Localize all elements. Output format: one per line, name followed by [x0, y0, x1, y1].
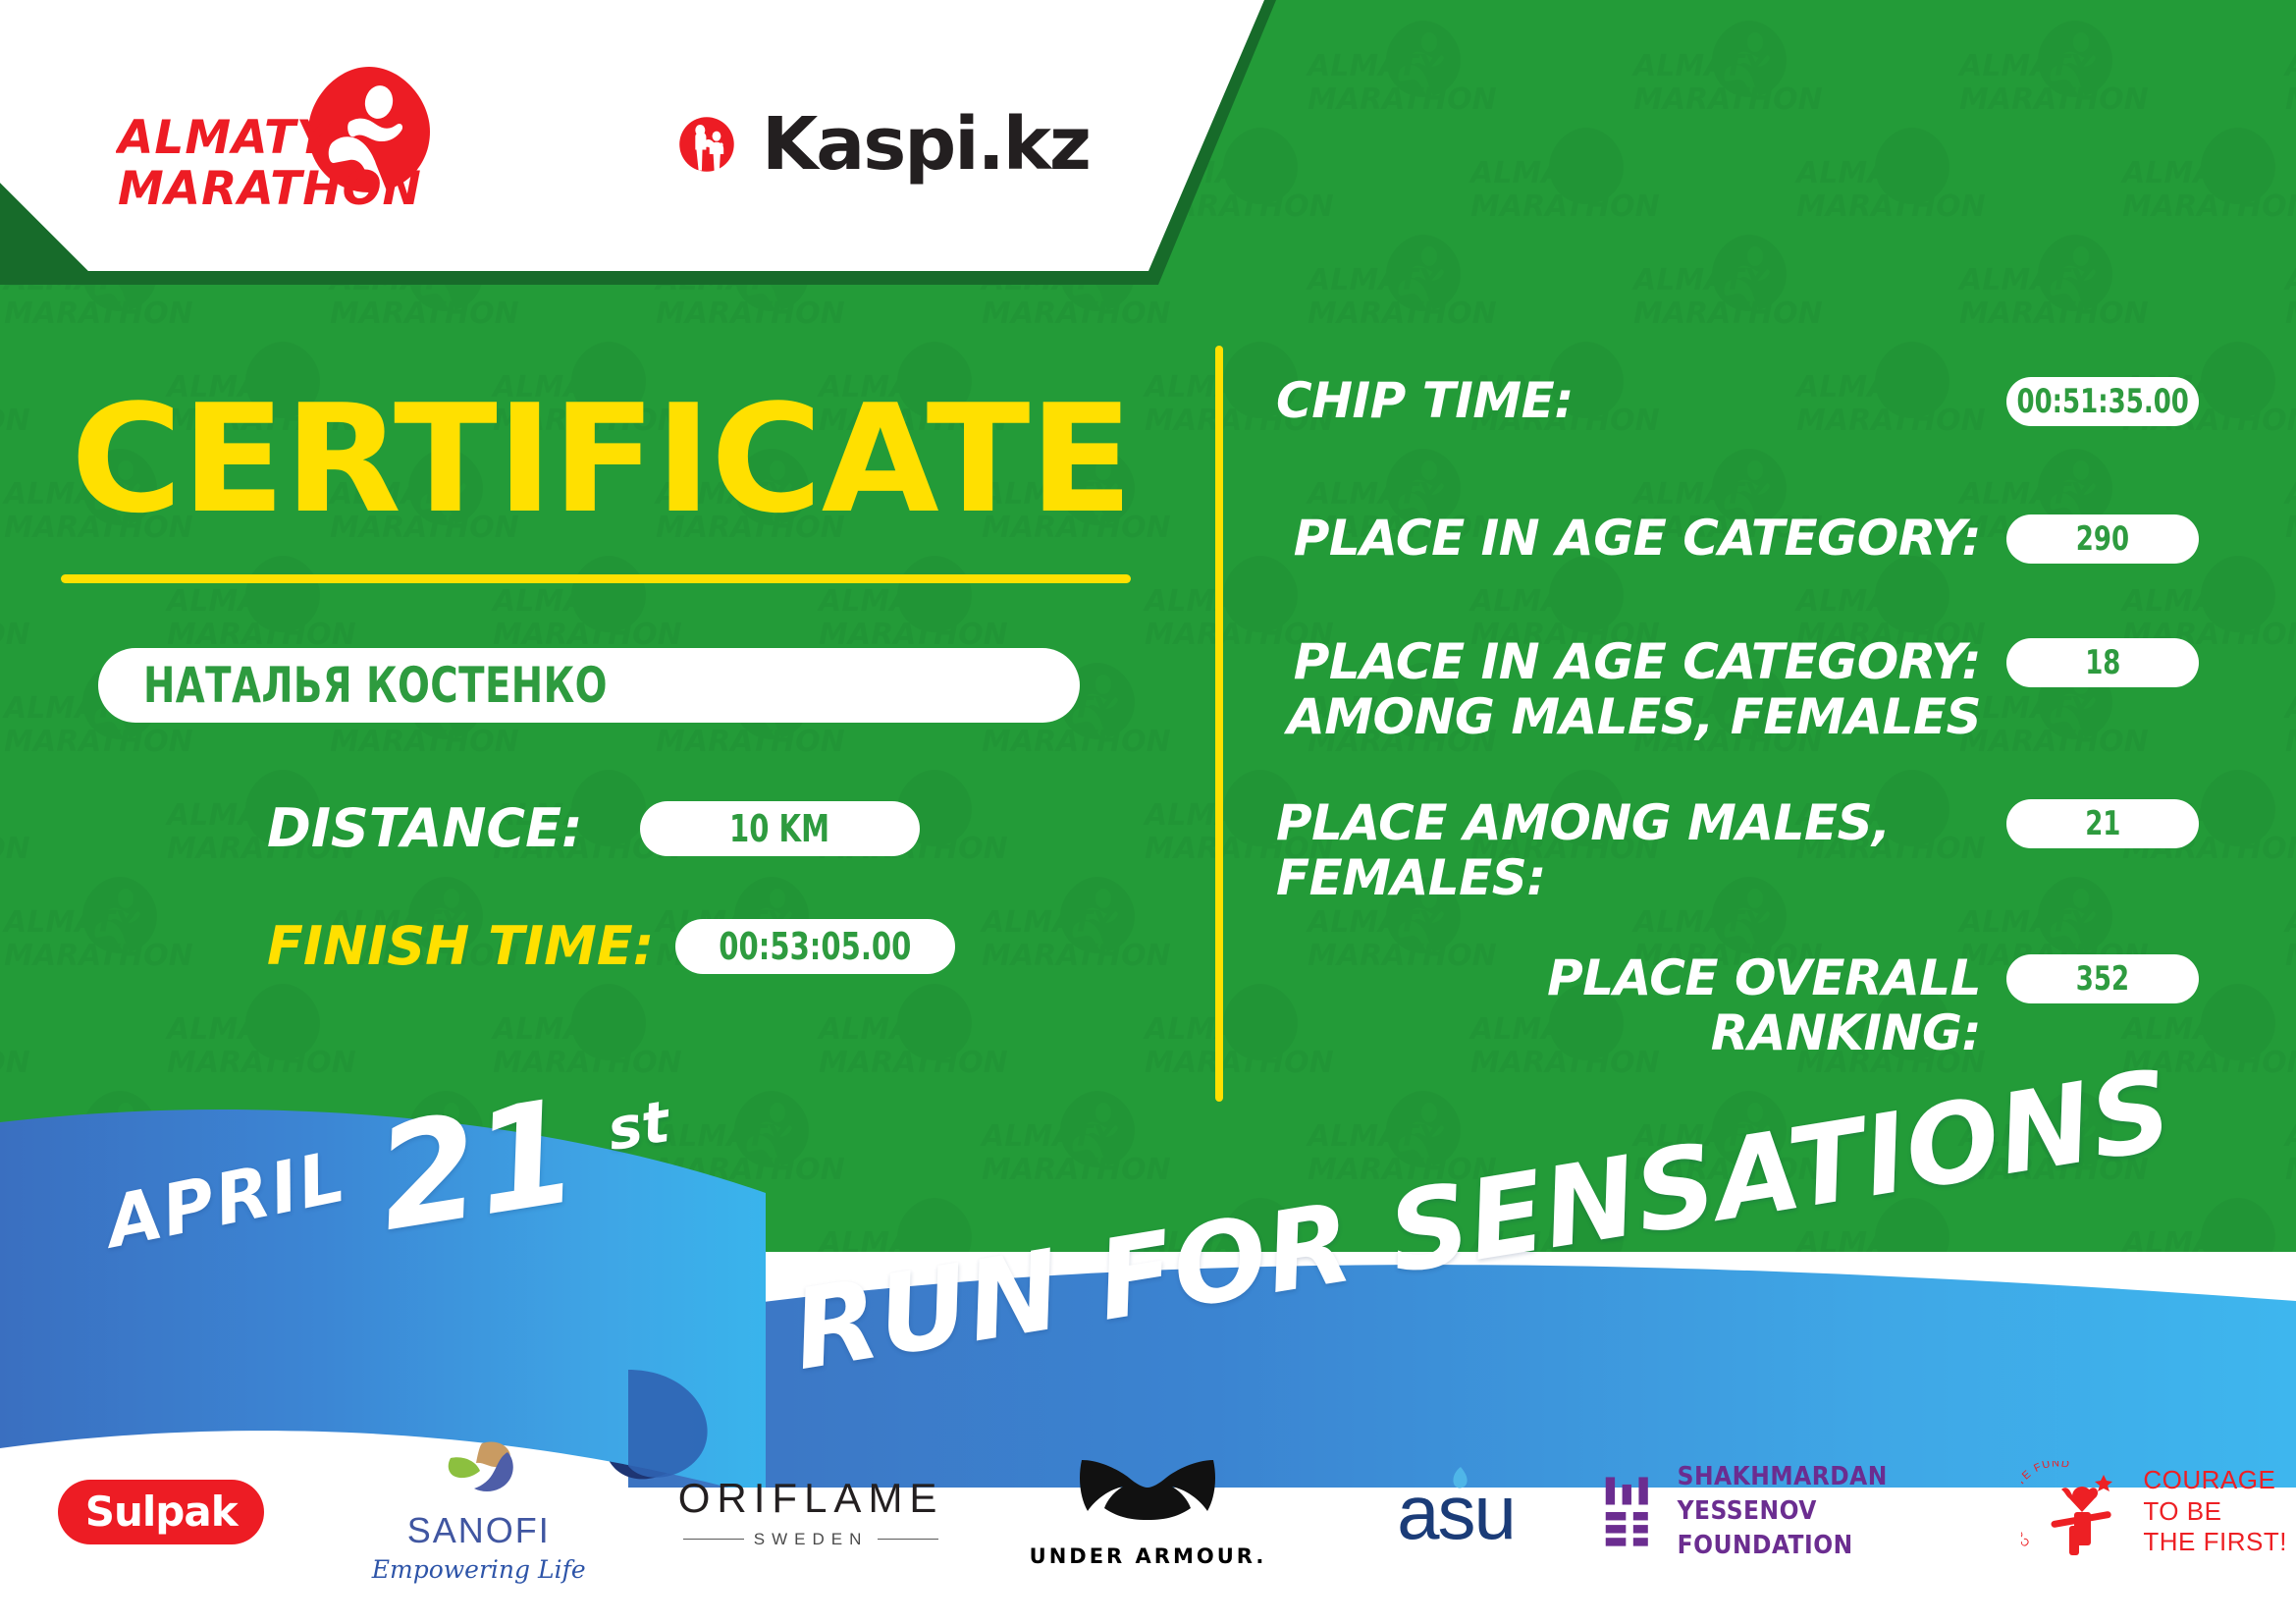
- participant-name: НАТАЛЬЯ КОСТЕНКО: [143, 657, 608, 714]
- stat-label: CHIP TIME:: [1276, 373, 2006, 428]
- courage-line1: COURAGE: [2143, 1465, 2287, 1496]
- oriflame-rule-right: [878, 1539, 938, 1541]
- asu-droplet-icon: [1448, 1466, 1469, 1495]
- sulpak-label: Sulpak: [85, 1488, 238, 1536]
- sanofi-mark-icon: [437, 1440, 521, 1501]
- title-underline: [61, 574, 1131, 583]
- almaty-logo-line2: MARATHON: [118, 162, 422, 216]
- yessenov-label: SHAKHMARDAN YESSENOV FOUNDATION: [1678, 1460, 2013, 1563]
- sulpak-badge-icon: Sulpak: [58, 1480, 264, 1544]
- sponsor-oriflame: ORIFLAME SWEDEN: [635, 1426, 987, 1597]
- stat-value-pill: 290: [2006, 514, 2199, 564]
- sanofi-label: SANOFI: [372, 1510, 586, 1551]
- sponsor-yessenov-foundation: SHAKHMARDAN YESSENOV FOUNDATION: [1602, 1426, 2012, 1597]
- page-title: CERTIFICATE: [71, 385, 1132, 534]
- courage-line3: THE FIRST!: [2143, 1527, 2287, 1558]
- stat-value-pill: 21: [2006, 799, 2199, 848]
- stat-value: 00:51:35.00: [2016, 382, 2188, 421]
- stat-value-pill: 00:51:35.00: [2006, 377, 2199, 426]
- stat-row-place-overall-ranking: PLACE OVERALL RANKING: 352: [1276, 950, 2199, 1060]
- stat-row-chip-time: CHIP TIME: 00:51:35.00: [1276, 373, 2199, 428]
- oriflame-sub: SWEDEN: [754, 1530, 869, 1549]
- certificate-canvas: ALMATY MARATHON Kaspi.kz CERTIFICATE НАТ…: [0, 0, 2296, 1624]
- kaspi-logo: Kaspi.kz: [677, 90, 1090, 198]
- courage-label: COURAGE TO BE THE FIRST!: [2143, 1465, 2287, 1558]
- almaty-marathon-logo: ALMATY MARATHON: [116, 59, 440, 216]
- courage-figure-icon: CORPORATE FUND: [2021, 1461, 2131, 1563]
- distance-label: DISTANCE:: [267, 797, 583, 859]
- stat-value: 290: [2076, 519, 2129, 559]
- courage-arc-text: CORPORATE FUND: [2021, 1461, 2071, 1548]
- sponsor-under-armour: UNDER ARMOUR.: [987, 1426, 1308, 1597]
- stat-row-place-among-males-females: PLACE AMONG MALES,FEMALES: 21: [1276, 795, 2199, 905]
- almaty-logo-line1: ALMATY: [116, 111, 335, 165]
- stat-value-pill: 18: [2006, 638, 2199, 687]
- stat-value: 352: [2076, 959, 2129, 999]
- finish-time-label: FINISH TIME:: [267, 915, 654, 977]
- stat-label: PLACE IN AGE CATEGORY:: [1276, 511, 2006, 566]
- yessenov-line1: SHAKHMARDAN YESSENOV: [1678, 1460, 2013, 1529]
- oriflame-label: ORIFLAME: [678, 1475, 944, 1522]
- stat-label: PLACE AMONG MALES,FEMALES:: [1276, 795, 2006, 905]
- oriflame-sub-row: SWEDEN: [678, 1530, 944, 1549]
- participant-name-field: НАТАЛЬЯ КОСТЕНКО: [98, 648, 1080, 723]
- sponsor-sulpak: Sulpak: [0, 1426, 322, 1597]
- finish-time-row: FINISH TIME: 00:53:05.00: [267, 915, 955, 977]
- svg-text:CORPORATE FUND: CORPORATE FUND: [2021, 1461, 2071, 1548]
- under-armour-label: UNDER ARMOUR.: [1030, 1544, 1267, 1568]
- stat-label: PLACE OVERALL RANKING:: [1276, 950, 2006, 1060]
- finish-time-value-pill: 00:53:05.00: [675, 919, 955, 974]
- asu-label: asu: [1397, 1474, 1515, 1550]
- stat-value: 18: [2085, 643, 2120, 682]
- sanofi-tagline: Empowering Life: [372, 1555, 586, 1584]
- sponsor-asu: asu: [1309, 1426, 1603, 1597]
- courage-line2: TO BE: [2143, 1496, 2287, 1528]
- under-armour-logo-icon: [1074, 1456, 1221, 1533]
- distance-value: 10 KM: [729, 807, 829, 850]
- column-divider: [1215, 346, 1223, 1102]
- sponsor-courage-to-be-the-first: CORPORATE FUND COURAGE TO BE THE FIRST!: [2012, 1426, 2296, 1597]
- distance-row: DISTANCE: 10 KM: [267, 797, 920, 859]
- stat-value: 21: [2085, 804, 2120, 843]
- yessenov-bars-icon: [1602, 1473, 1655, 1551]
- stat-label: PLACE IN AGE CATEGORY:AMONG MALES, FEMAL…: [1276, 634, 2006, 744]
- oriflame-rule-left: [683, 1539, 744, 1541]
- stat-row-place-age-category: PLACE IN AGE CATEGORY: 290: [1276, 511, 2199, 566]
- stat-row-place-age-category-among: PLACE IN AGE CATEGORY:AMONG MALES, FEMAL…: [1276, 634, 2199, 744]
- kaspi-people-icon: [677, 93, 736, 195]
- stat-value-pill: 352: [2006, 954, 2199, 1003]
- sponsor-sanofi: SANOFI Empowering Life: [322, 1426, 635, 1597]
- finish-time-value: 00:53:05.00: [720, 925, 912, 968]
- kaspi-wordmark: Kaspi.kz: [762, 108, 1090, 181]
- distance-value-pill: 10 KM: [640, 801, 920, 856]
- sponsor-logo-strip: Sulpak SANOFI Empowering Life ORIFLAME S…: [0, 1426, 2296, 1597]
- yessenov-line2: FOUNDATION: [1678, 1529, 2013, 1563]
